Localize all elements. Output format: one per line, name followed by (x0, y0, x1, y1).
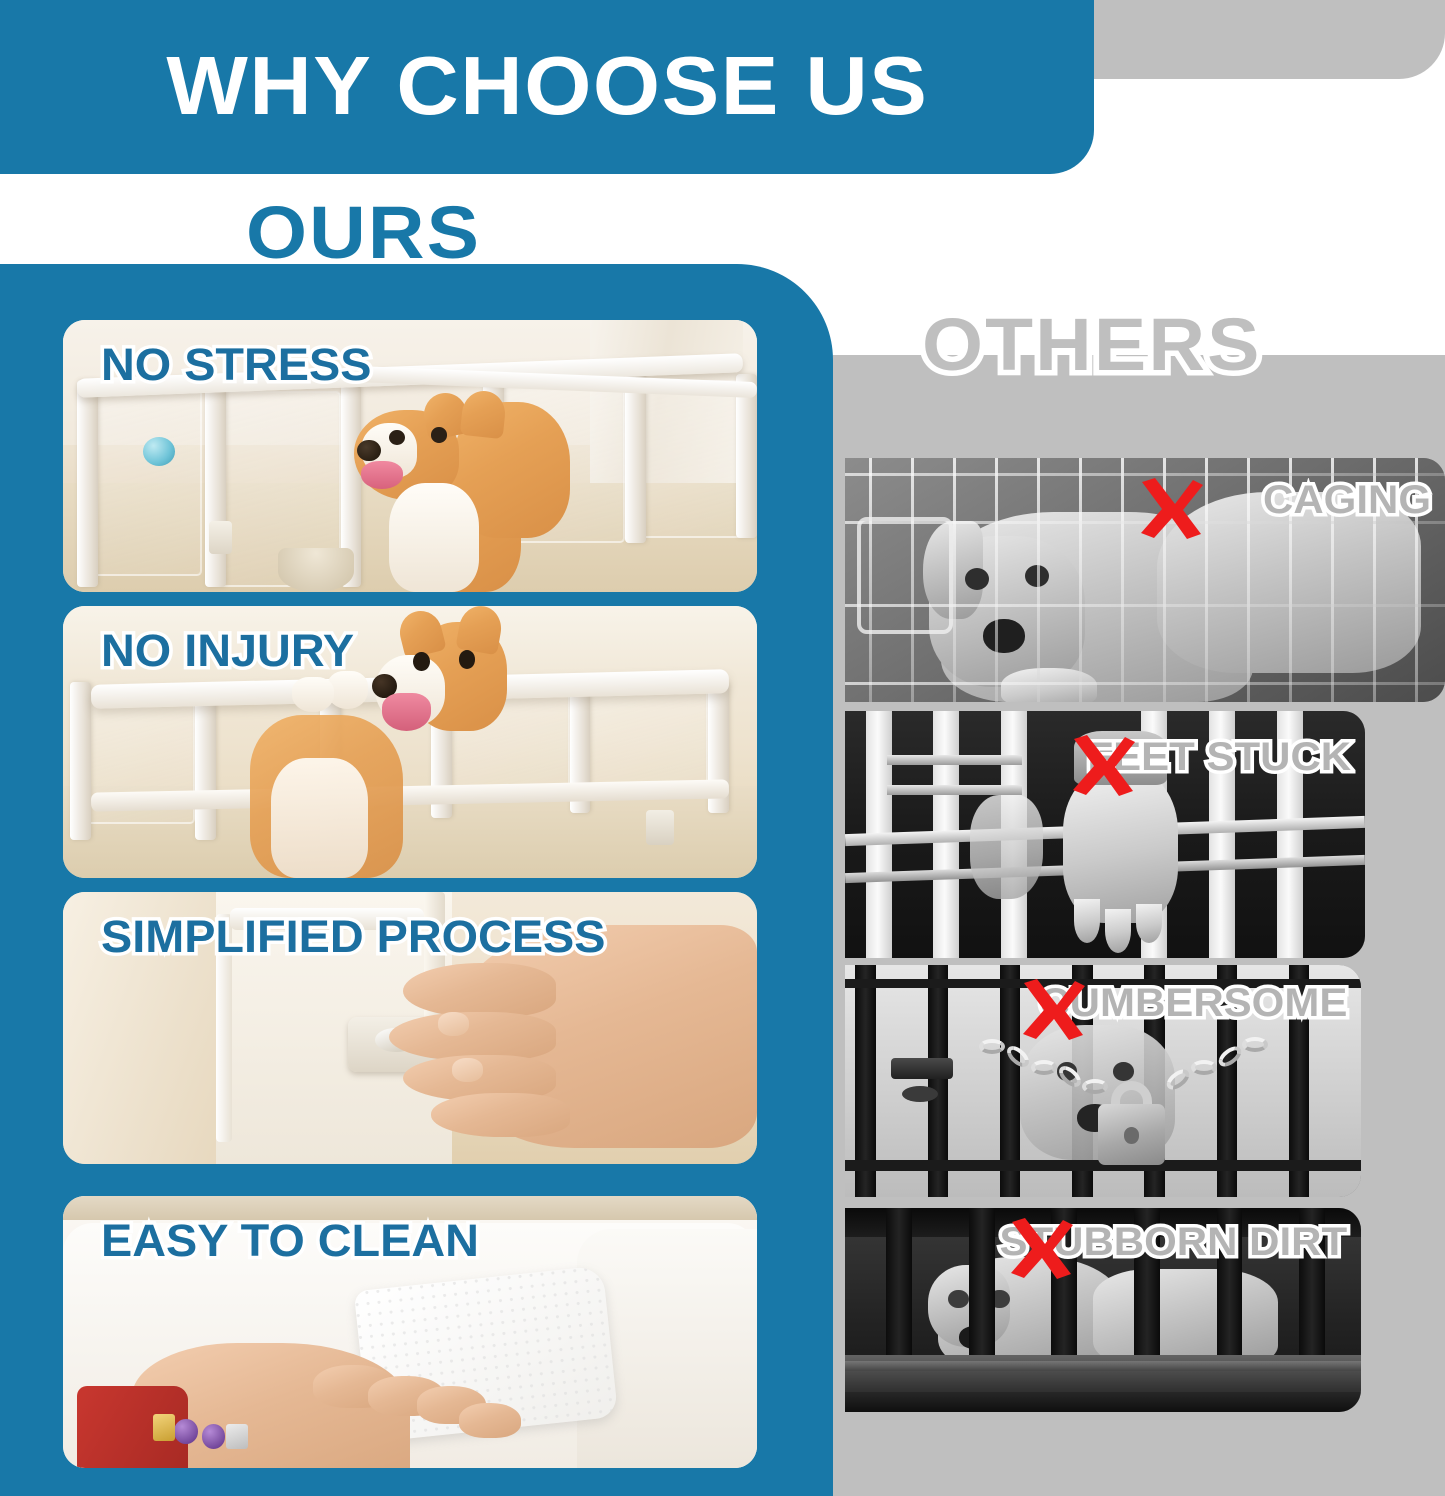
others-card-feet-stuck: FEET STUCK (845, 711, 1365, 958)
title-banner: WHY CHOOSE US (0, 0, 1094, 174)
x-mark-icon (1067, 733, 1139, 799)
x-mark-icon (1017, 977, 1089, 1043)
x-mark-icon (1135, 476, 1207, 542)
others-card-cumbersome: CUMBERSOME (845, 965, 1361, 1197)
others-card-label: CAGING (1263, 480, 1431, 520)
ours-section-heading: OURS (246, 196, 481, 270)
x-mark-icon (1005, 1216, 1077, 1282)
ours-card-label: SIMPLIFIED PROCESS (101, 914, 605, 959)
ours-card-label: NO INJURY (101, 628, 354, 673)
others-card-caging: CAGING (845, 458, 1445, 702)
page-title: WHY CHOOSE US (166, 44, 928, 127)
why-choose-us-infographic: WHY CHOOSE US OURS OTHERS (0, 0, 1445, 1496)
ours-card-easy-to-clean: EASY TO CLEAN (63, 1196, 757, 1468)
others-section-heading: OTHERS (922, 308, 1262, 382)
ours-card-simplified-process: SIMPLIFIED PROCESS (63, 892, 757, 1164)
ours-card-no-stress: NO STRESS (63, 320, 757, 592)
ours-card-label: NO STRESS (101, 342, 371, 387)
top-gray-accent-bar (1088, 0, 1445, 79)
others-card-stubborn-dirt: STUBBORN DIRT (845, 1208, 1361, 1412)
ours-card-no-injury: NO INJURY (63, 606, 757, 878)
ours-card-label: EASY TO CLEAN (101, 1218, 479, 1263)
